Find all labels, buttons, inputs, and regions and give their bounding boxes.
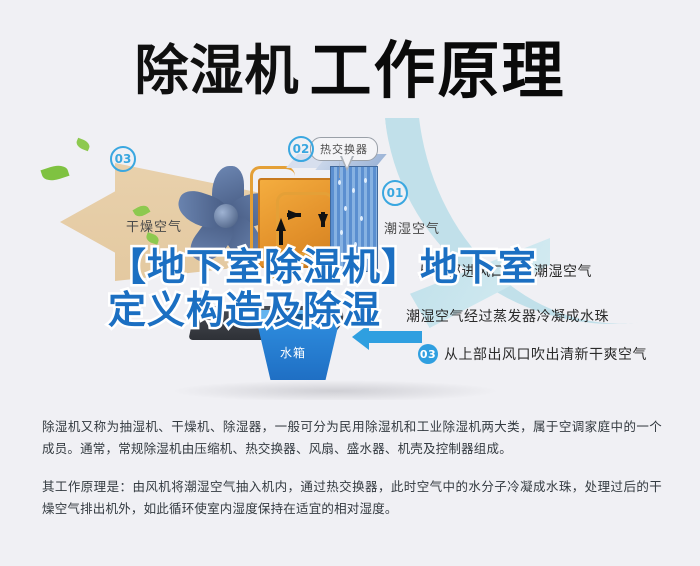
title-part-one: 除湿机 <box>134 26 299 105</box>
callout-pointer-icon <box>340 156 354 171</box>
watermark-line-2: 定义构造及除湿 <box>108 289 668 332</box>
water-tank-label: 水箱 <box>280 344 306 361</box>
watermark-line-1: 【地下室除湿机】地下室 <box>108 246 668 289</box>
diagram-caption-3: 从上部出风口吹出清新干爽空气 <box>444 344 647 364</box>
badge-03: 03 <box>110 146 136 172</box>
page-title: 除湿机 工作原理 <box>0 20 700 110</box>
picture-shadow <box>170 380 500 400</box>
caption-badge-03: 03 <box>418 344 438 364</box>
article-body: 除湿机又称为抽湿机、干燥机、除湿器，一般可分为民用除湿机和工业除湿机两大类，属于… <box>42 416 662 520</box>
flow-arrow-right-icon <box>288 210 301 220</box>
body-paragraph-1: 除湿机又称为抽湿机、干燥机、除湿器，一般可分为民用除湿机和工业除湿机两大类，属于… <box>42 416 662 460</box>
badge-01: 01 <box>382 180 408 206</box>
diagram-caption-3-row: 03 从上部出风口吹出清新干爽空气 <box>418 344 647 364</box>
infographic-page: 除湿机 工作原理 干燥空气 <box>0 0 700 566</box>
flow-arrow-up-icon <box>276 218 286 231</box>
body-paragraph-2: 其工作原理是：由风机将潮湿空气抽入机内，通过热交换器，此时空气中的水分子冷凝成水… <box>42 476 662 520</box>
moist-air-label: 潮湿空气 <box>384 218 440 237</box>
leaf-icon <box>40 162 69 183</box>
watermark-overlay: 【地下室除湿机】地下室 定义构造及除湿 <box>108 246 668 332</box>
badge-02: 02 <box>288 136 314 162</box>
title-part-two: 工作原理 <box>309 20 565 110</box>
leaf-icon <box>75 138 91 152</box>
inlet-arrow-icon <box>368 331 422 343</box>
flow-arrow-down-icon <box>318 214 328 227</box>
